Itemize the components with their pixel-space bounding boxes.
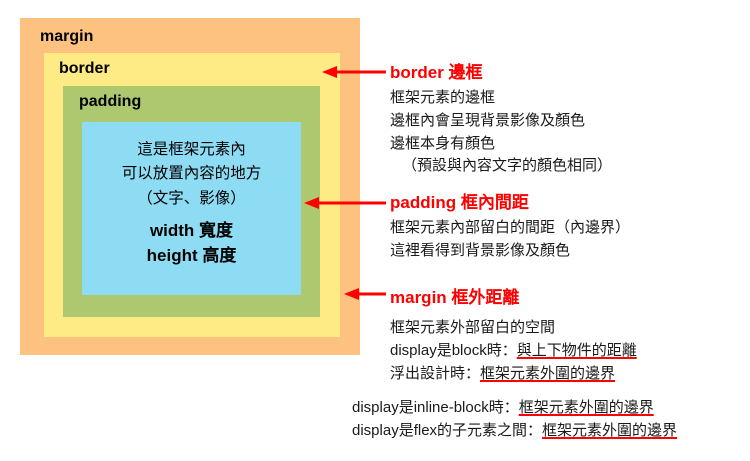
border-box-label: border [59, 60, 110, 78]
annotation-margin-line-2: display是block時：與上下物件的距離 [390, 340, 637, 363]
annotation-margin-line-3-prefix: 浮出設計時： [390, 365, 480, 382]
annotation-padding-body: 框架元素內部留白的間距（內邊界） 這裡看得到背景影像及顏色 [390, 217, 630, 263]
margin-box-label: margin [40, 28, 93, 46]
content-box-description: 這是框架元素內 可以放置內容的地方 （文字、影像） [82, 122, 301, 211]
annotation-margin: margin 框外距離 框架元素外部留白的空間 display是block時：與… [390, 283, 637, 385]
margin-box: margin border padding 這是框架元素內 可以放置內容的地方 … [20, 18, 360, 355]
annotation-padding-line-1: 框架元素內部留白的間距（內邊界） [390, 217, 630, 240]
annotation-border-title: border 邊框 [390, 58, 612, 83]
border-box: border padding 這是框架元素內 可以放置內容的地方 （文字、影像）… [44, 53, 340, 337]
footer-notes: display是inline-block時：框架元素外圍的邊界 display是… [352, 397, 677, 443]
footer-line-1: display是inline-block時：框架元素外圍的邊界 [352, 397, 677, 420]
content-line-2: 可以放置內容的地方 [82, 162, 301, 186]
annotation-padding: padding 框內間距 框架元素內部留白的間距（內邊界） 這裡看得到背景影像及… [390, 188, 630, 263]
content-width-label: width 寬度 [82, 219, 301, 244]
diagram-canvas: margin border padding 這是框架元素內 可以放置內容的地方 … [0, 0, 750, 461]
content-line-1: 這是框架元素內 [82, 138, 301, 162]
footer-line-2: display是flex的子元素之間：框架元素外圍的邊界 [352, 420, 677, 443]
content-box-dimensions: width 寬度 height 高度 [82, 211, 301, 268]
annotation-margin-line-2-prefix: display是block時： [390, 342, 517, 359]
annotation-border-body: 框架元素的邊框 邊框內會呈現背景影像及顏色 邊框本身有顏色 （預設與內容文字的顏… [390, 87, 612, 178]
content-height-label: height 高度 [82, 244, 301, 269]
footer-line-2-emphasis: 框架元素外圍的邊界 [542, 422, 677, 439]
footer-line-1-emphasis: 框架元素外圍的邊界 [519, 399, 654, 416]
annotation-margin-title: margin 框外距離 [390, 283, 637, 308]
padding-box-label: padding [79, 93, 141, 111]
content-line-3: （文字、影像） [82, 187, 301, 211]
annotation-padding-title: padding 框內間距 [390, 188, 630, 213]
annotation-margin-line-3-emphasis: 框架元素外圍的邊界 [480, 365, 615, 382]
annotation-border-line-4: （預設與內容文字的顏色相同） [390, 155, 612, 178]
annotation-border-line-1: 框架元素的邊框 [390, 87, 612, 110]
annotation-padding-line-2: 這裡看得到背景影像及顏色 [390, 240, 630, 263]
footer-line-1-prefix: display是inline-block時： [352, 399, 519, 416]
padding-box: padding 這是框架元素內 可以放置內容的地方 （文字、影像） width … [63, 86, 320, 317]
annotation-margin-body: 框架元素外部留白的空間 display是block時：與上下物件的距離 浮出設計… [390, 317, 637, 385]
annotation-margin-line-1: 框架元素外部留白的空間 [390, 317, 637, 340]
annotation-border-line-3: 邊框本身有顏色 [390, 133, 612, 156]
annotation-margin-line-3: 浮出設計時：框架元素外圍的邊界 [390, 363, 637, 386]
annotation-margin-line-2-emphasis: 與上下物件的距離 [517, 342, 637, 359]
annotation-border: border 邊框 框架元素的邊框 邊框內會呈現背景影像及顏色 邊框本身有顏色 … [390, 58, 612, 178]
annotation-border-line-2: 邊框內會呈現背景影像及顏色 [390, 110, 612, 133]
content-box: 這是框架元素內 可以放置內容的地方 （文字、影像） width 寬度 heigh… [82, 122, 301, 295]
footer-line-2-prefix: display是flex的子元素之間： [352, 422, 542, 439]
